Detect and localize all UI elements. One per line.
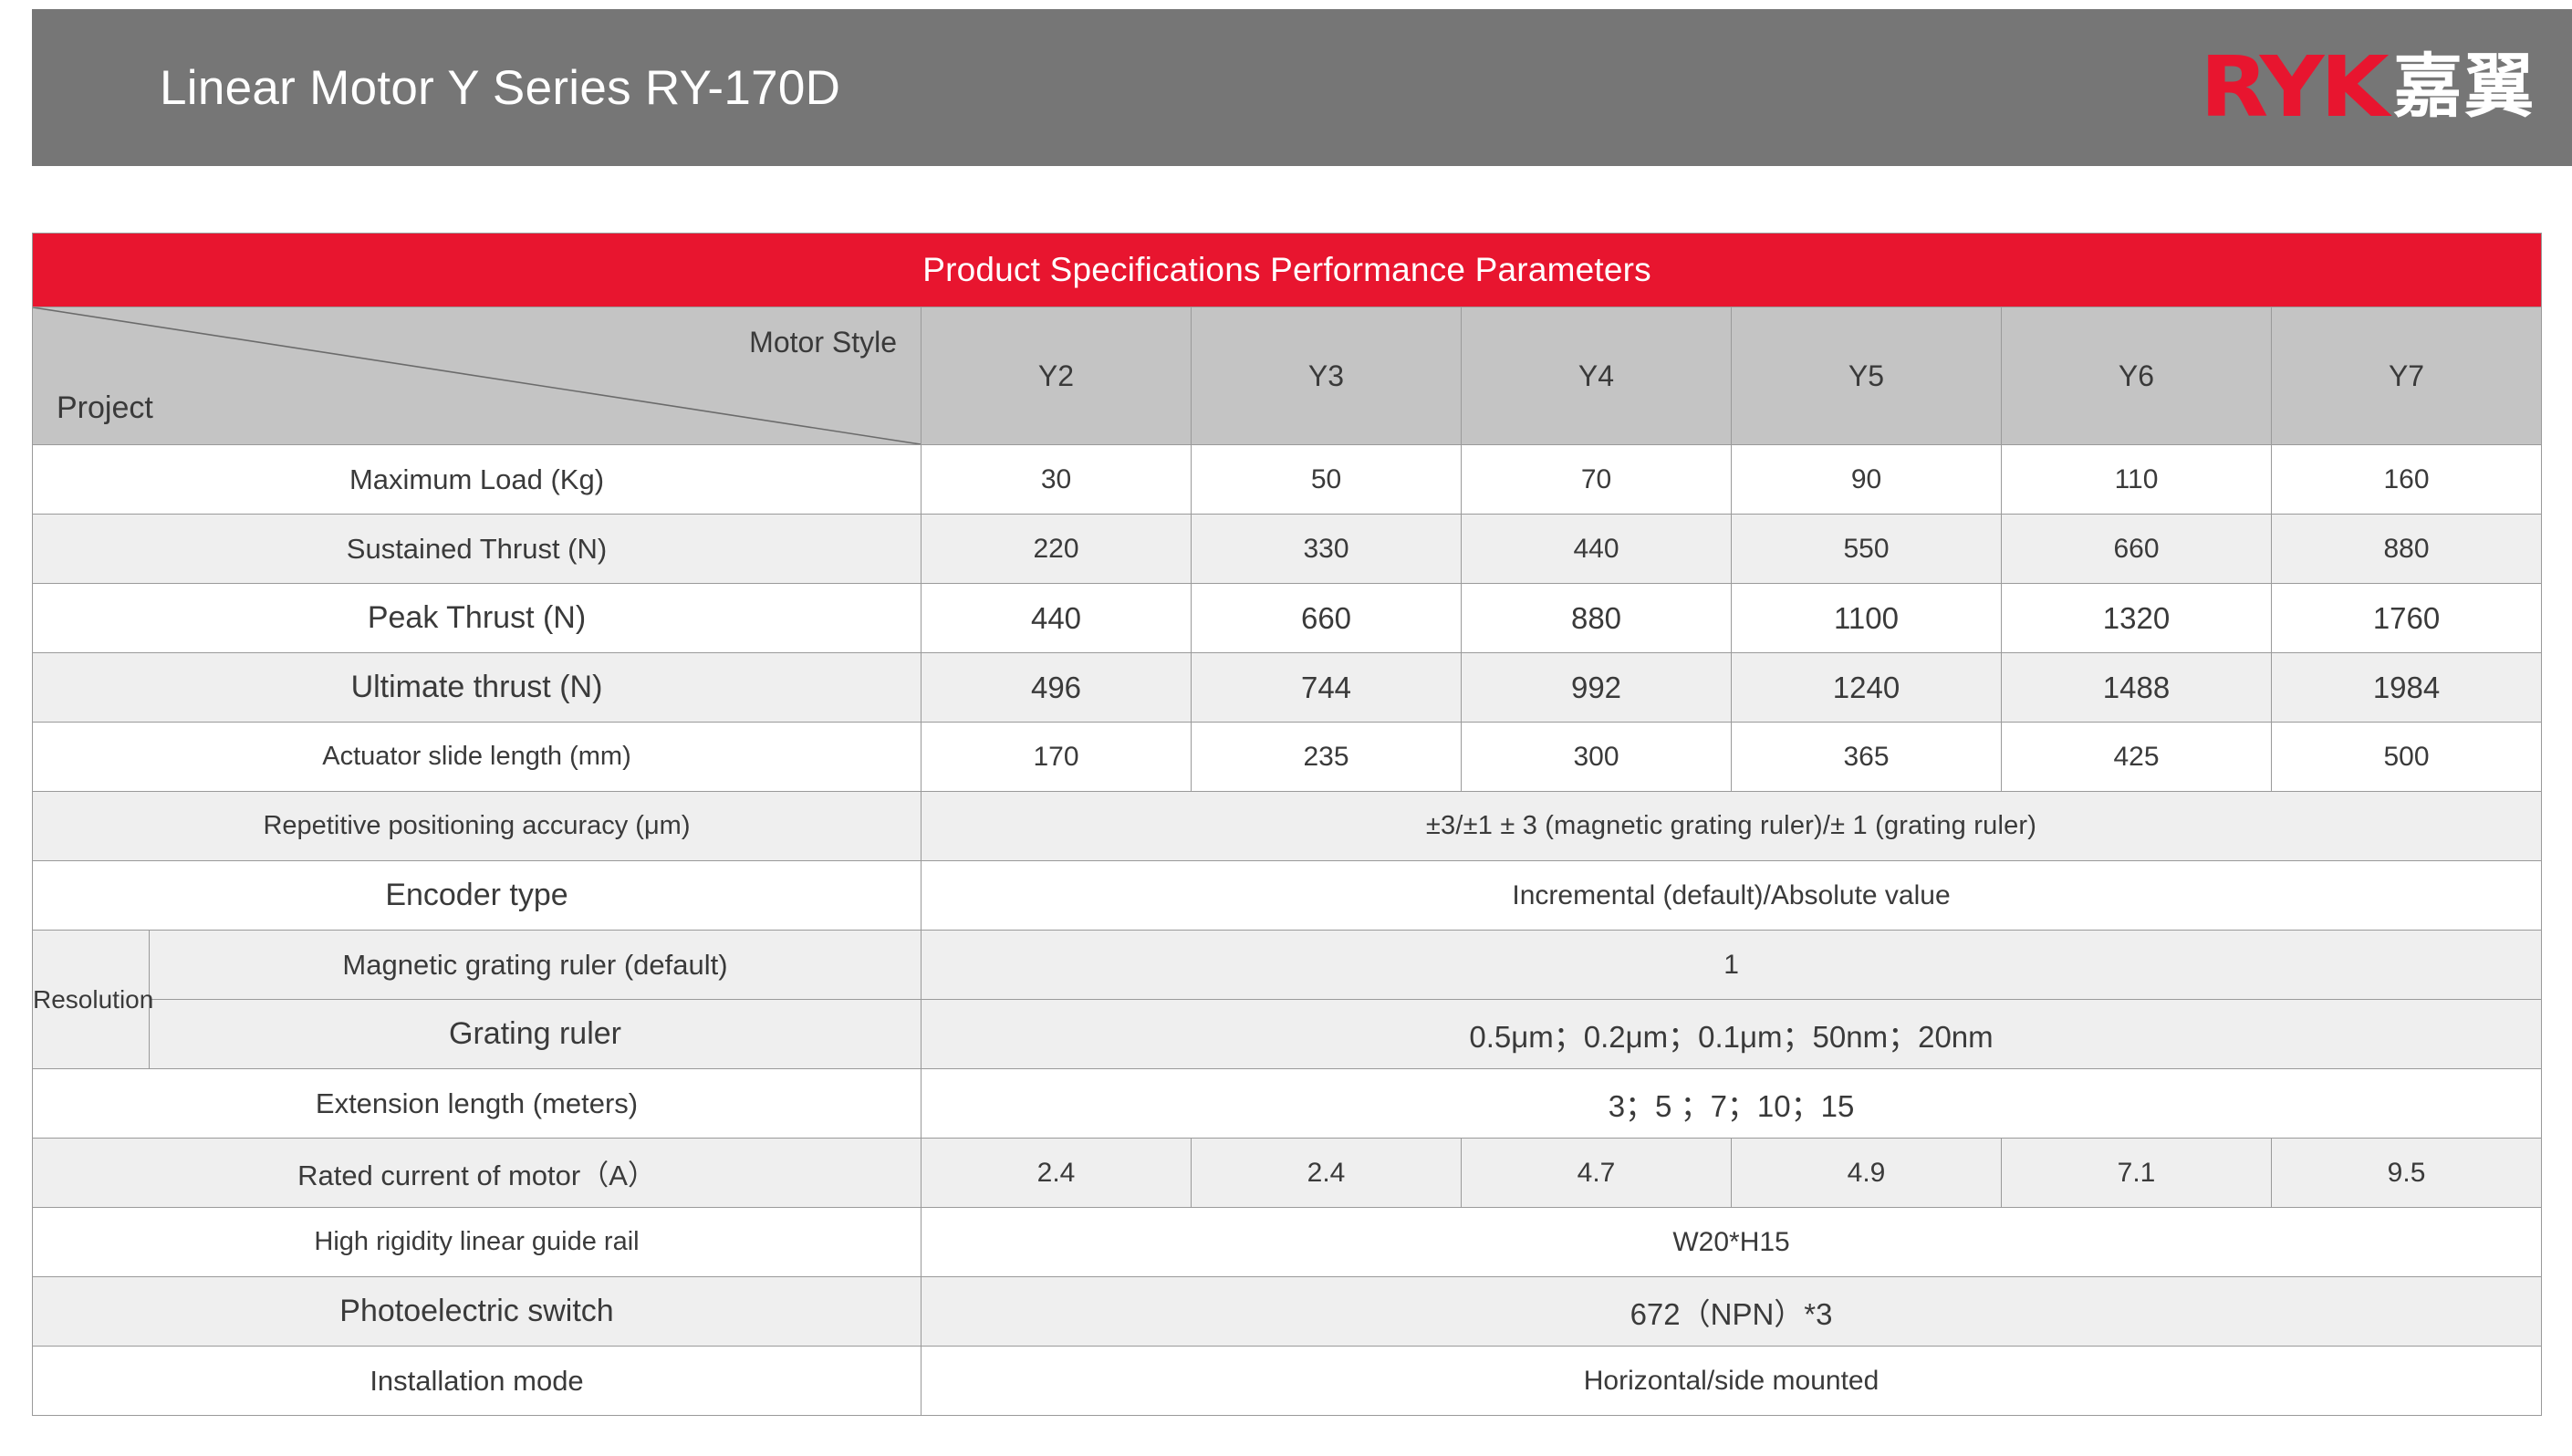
column-header-y2: Y2 xyxy=(922,307,1192,445)
cell-maximum-load-y3: 50 xyxy=(1192,445,1462,515)
cell-sustained-thrust-y4: 440 xyxy=(1462,515,1732,584)
table-row: Repetitive positioning accuracy (μm) ±3/… xyxy=(33,792,2542,861)
row-label-rated-current: Rated current of motor（A） xyxy=(33,1139,922,1208)
cell-installation-mode-value: Horizontal/side mounted xyxy=(922,1347,2542,1416)
table-row: Encoder type Incremental (default)/Absol… xyxy=(33,861,2542,931)
row-label-maximum-load: Maximum Load (Kg) xyxy=(33,445,922,515)
cell-sustained-thrust-y2: 220 xyxy=(922,515,1192,584)
column-header-y7: Y7 xyxy=(2272,307,2542,445)
row-label-magnetic-grating-ruler: Magnetic grating ruler (default) xyxy=(150,931,922,1000)
cell-ultimate-thrust-y5: 1240 xyxy=(1732,653,2002,723)
logo-wordmark: RYK xyxy=(2201,46,2386,130)
cell-magnetic-grating-ruler-value: 1 xyxy=(922,931,2542,1000)
cell-sustained-thrust-y5: 550 xyxy=(1732,515,2002,584)
cell-photoelectric-switch-value: 672（NPN）*3 xyxy=(922,1277,2542,1347)
cell-maximum-load-y5: 90 xyxy=(1732,445,2002,515)
cell-grating-ruler-value: 0.5μm；0.2μm；0.1μm；50nm；20nm xyxy=(922,1000,2542,1069)
cell-ultimate-thrust-y4: 992 xyxy=(1462,653,1732,723)
cell-peak-thrust-y6: 1320 xyxy=(2002,584,2272,653)
row-label-extension-length: Extension length (meters) xyxy=(33,1069,922,1139)
table-row: Ultimate thrust (N) 496 744 992 1240 148… xyxy=(33,653,2542,723)
column-header-y6: Y6 xyxy=(2002,307,2272,445)
cell-peak-thrust-y3: 660 xyxy=(1192,584,1462,653)
table-row: Maximum Load (Kg) 30 50 70 90 110 160 xyxy=(33,445,2542,515)
row-label-sustained-thrust: Sustained Thrust (N) xyxy=(33,515,922,584)
cell-maximum-load-y6: 110 xyxy=(2002,445,2272,515)
cell-actuator-slide-length-y2: 170 xyxy=(922,723,1192,792)
cell-rated-current-y6: 7.1 xyxy=(2002,1139,2272,1208)
table-row: Grating ruler 0.5μm；0.2μm；0.1μm；50nm；20n… xyxy=(33,1000,2542,1069)
table-row: Extension length (meters) 3；5 ；7；10；15 xyxy=(33,1069,2542,1139)
cell-ultimate-thrust-y3: 744 xyxy=(1192,653,1462,723)
row-label-peak-thrust: Peak Thrust (N) xyxy=(33,584,922,653)
table-row: Resolution Magnetic grating ruler (defau… xyxy=(33,931,2542,1000)
cell-peak-thrust-y2: 440 xyxy=(922,584,1192,653)
row-label-photoelectric-switch: Photoelectric switch xyxy=(33,1277,922,1347)
logo-chinese-name: 嘉翼 xyxy=(2393,53,2536,122)
row-label-actuator-slide-length: Actuator slide length (mm) xyxy=(33,723,922,792)
cell-actuator-slide-length-y5: 365 xyxy=(1732,723,2002,792)
cell-repetitive-positioning-accuracy-value: ±3/±1 ± 3 (magnetic grating ruler)/± 1 (… xyxy=(922,792,2542,861)
cell-rated-current-y2: 2.4 xyxy=(922,1139,1192,1208)
cell-ultimate-thrust-y7: 1984 xyxy=(2272,653,2542,723)
specifications-table: Product Specifications Performance Param… xyxy=(32,233,2542,1416)
cell-encoder-type-value: Incremental (default)/Absolute value xyxy=(922,861,2542,931)
cell-rated-current-y3: 2.4 xyxy=(1192,1139,1462,1208)
cell-actuator-slide-length-y3: 235 xyxy=(1192,723,1462,792)
cell-maximum-load-y7: 160 xyxy=(2272,445,2542,515)
table-header-row: Motor Style Project Y2 Y3 Y4 Y5 Y6 Y7 xyxy=(33,307,2542,445)
cell-high-rigidity-guide-rail-value: W20*H15 xyxy=(922,1208,2542,1277)
cell-extension-length-value: 3；5 ；7；10；15 xyxy=(922,1069,2542,1139)
cell-ultimate-thrust-y2: 496 xyxy=(922,653,1192,723)
table-row: Rated current of motor（A） 2.4 2.4 4.7 4.… xyxy=(33,1139,2542,1208)
table-row: Actuator slide length (mm) 170 235 300 3… xyxy=(33,723,2542,792)
cell-ultimate-thrust-y6: 1488 xyxy=(2002,653,2272,723)
table-row: Installation mode Horizontal/side mounte… xyxy=(33,1347,2542,1416)
row-label-ultimate-thrust: Ultimate thrust (N) xyxy=(33,653,922,723)
table-banner-title: Product Specifications Performance Param… xyxy=(33,234,2542,307)
cell-rated-current-y5: 4.9 xyxy=(1732,1139,2002,1208)
cell-sustained-thrust-y6: 660 xyxy=(2002,515,2272,584)
cell-actuator-slide-length-y4: 300 xyxy=(1462,723,1732,792)
cell-peak-thrust-y4: 880 xyxy=(1462,584,1732,653)
cell-peak-thrust-y5: 1100 xyxy=(1732,584,2002,653)
cell-maximum-load-y4: 70 xyxy=(1462,445,1732,515)
corner-label-motor-style: Motor Style xyxy=(749,326,897,359)
table-row: Photoelectric switch 672（NPN）*3 xyxy=(33,1277,2542,1347)
row-label-encoder-type: Encoder type xyxy=(33,861,922,931)
column-header-y3: Y3 xyxy=(1192,307,1462,445)
table-row: Sustained Thrust (N) 220 330 440 550 660… xyxy=(33,515,2542,584)
cell-actuator-slide-length-y7: 500 xyxy=(2272,723,2542,792)
row-group-label-resolution: Resolution xyxy=(33,931,150,1069)
row-label-repetitive-positioning-accuracy: Repetitive positioning accuracy (μm) xyxy=(33,792,922,861)
row-label-grating-ruler: Grating ruler xyxy=(150,1000,922,1069)
column-header-y4: Y4 xyxy=(1462,307,1732,445)
corner-header-cell: Motor Style Project xyxy=(33,307,922,445)
cell-rated-current-y4: 4.7 xyxy=(1462,1139,1732,1208)
cell-sustained-thrust-y7: 880 xyxy=(2272,515,2542,584)
table-row: High rigidity linear guide rail W20*H15 xyxy=(33,1208,2542,1277)
page-header: Linear Motor Y Series RY-170D RYK 嘉翼 xyxy=(32,9,2572,166)
row-label-installation-mode: Installation mode xyxy=(33,1347,922,1416)
cell-rated-current-y7: 9.5 xyxy=(2272,1139,2542,1208)
column-header-y5: Y5 xyxy=(1732,307,2002,445)
table-row: Peak Thrust (N) 440 660 880 1100 1320 17… xyxy=(33,584,2542,653)
row-label-high-rigidity-guide-rail: High rigidity linear guide rail xyxy=(33,1208,922,1277)
cell-maximum-load-y2: 30 xyxy=(922,445,1192,515)
cell-actuator-slide-length-y6: 425 xyxy=(2002,723,2272,792)
table-banner-row: Product Specifications Performance Param… xyxy=(33,234,2542,307)
cell-peak-thrust-y7: 1760 xyxy=(2272,584,2542,653)
cell-sustained-thrust-y3: 330 xyxy=(1192,515,1462,584)
page-title: Linear Motor Y Series RY-170D xyxy=(160,60,840,116)
corner-label-project: Project xyxy=(57,390,153,426)
brand-logo: RYK 嘉翼 xyxy=(2205,46,2572,130)
